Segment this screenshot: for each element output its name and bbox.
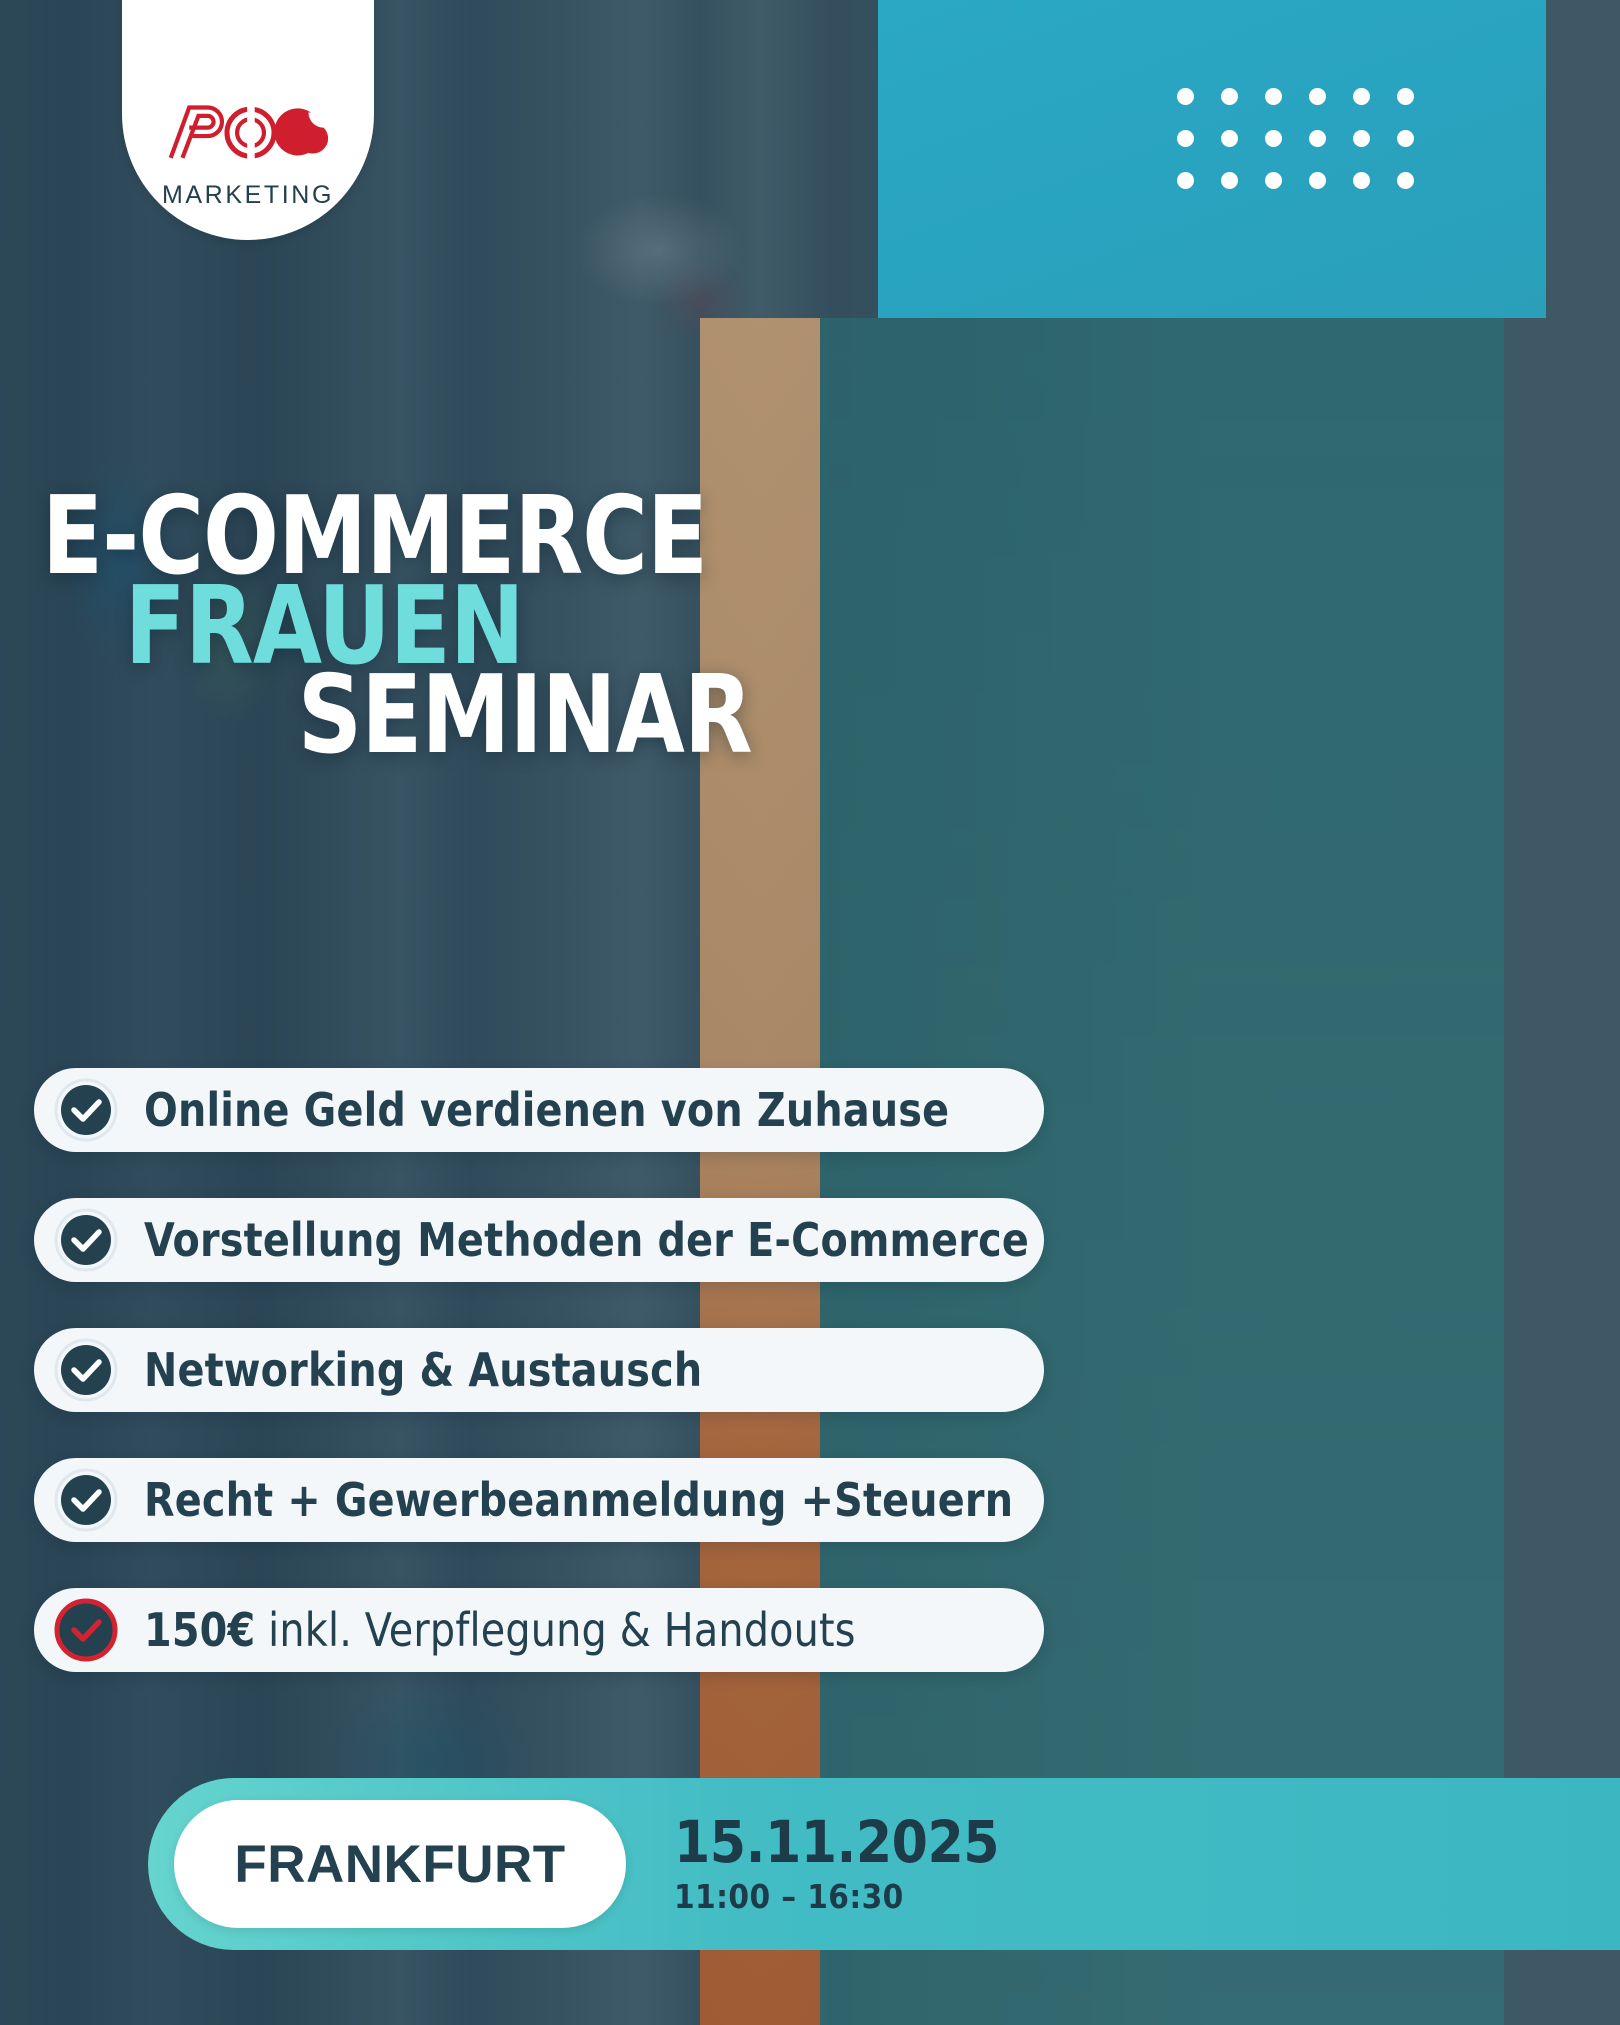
city-badge[interactable]: FRANKFURT	[174, 1800, 626, 1928]
event-date: 15.11.2025	[674, 1812, 999, 1873]
dot-grid-icon	[1177, 88, 1441, 214]
event-time: 11:00 – 16:30	[674, 1877, 999, 1916]
event-footer-bar: FRANKFURT 15.11.2025 11:00 – 16:30	[148, 1778, 1620, 1950]
list-item-label: Recht + Gewerbeanmeldung +Steuern	[144, 1473, 1013, 1527]
list-item[interactable]: Vorstellung Methoden der E-Commerce	[34, 1198, 1044, 1282]
brand-wordmark: MARKETING	[162, 181, 334, 210]
title-line-3: SEMINAR	[42, 671, 796, 761]
city-label: FRANKFURT	[234, 1834, 565, 1895]
list-item[interactable]: Recht + Gewerbeanmeldung +Steuern	[34, 1458, 1044, 1542]
price-note: inkl. Verpflegung & Handouts	[255, 1603, 855, 1657]
page-title: E-COMMERCE FRAUEN SEMINAR	[42, 492, 862, 761]
list-item[interactable]: Networking & Austausch	[34, 1328, 1044, 1412]
check-circle-icon	[54, 1078, 118, 1142]
check-circle-icon	[54, 1338, 118, 1402]
check-circle-icon	[54, 1598, 118, 1662]
list-item-label: Networking & Austausch	[144, 1343, 702, 1397]
list-item-label: Online Geld verdienen von Zuhause	[144, 1083, 949, 1137]
list-item-price[interactable]: 150€ inkl. Verpflegung & Handouts	[34, 1588, 1044, 1672]
price-amount: 150€	[144, 1603, 255, 1657]
check-circle-icon	[54, 1468, 118, 1532]
poster-root: MARKETING E-COMMERCE FRAUEN SEMINAR Onli…	[0, 0, 1620, 2025]
list-item-label: 150€ inkl. Verpflegung & Handouts	[144, 1603, 856, 1657]
feature-list: Online Geld verdienen von Zuhause Vorste…	[34, 1068, 1044, 1718]
pos-logo-icon	[164, 95, 332, 167]
list-item-label: Vorstellung Methoden der E-Commerce	[144, 1213, 1029, 1267]
check-circle-icon	[54, 1208, 118, 1272]
event-datetime: 15.11.2025 11:00 – 16:30	[674, 1812, 999, 1916]
list-item[interactable]: Online Geld verdienen von Zuhause	[34, 1068, 1044, 1152]
